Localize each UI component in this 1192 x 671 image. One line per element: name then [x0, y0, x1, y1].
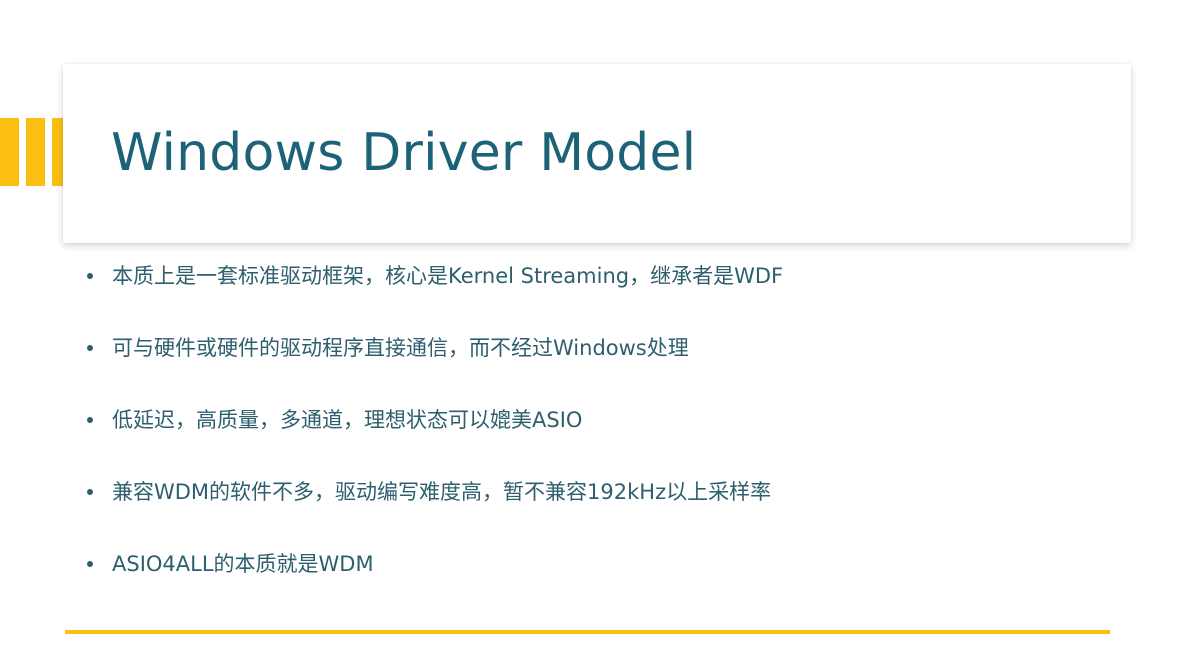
- title-card: Windows Driver Model: [63, 64, 1131, 243]
- bullet-dot-icon: [87, 489, 93, 495]
- slide-canvas: Windows Driver Model 本质上是一套标准驱动框架，核心是Ker…: [0, 0, 1192, 671]
- list-item-label: 本质上是一套标准驱动框架，核心是Kernel Streaming，继承者是WDF: [112, 264, 783, 288]
- bullet-dot-icon: [87, 417, 93, 423]
- list-item-label: 兼容WDM的软件不多，驱动编写难度高，暂不兼容192kHz以上采样率: [112, 480, 771, 504]
- list-item: 兼容WDM的软件不多，驱动编写难度高，暂不兼容192kHz以上采样率: [82, 478, 1112, 506]
- page-title: Windows Driver Model: [63, 125, 696, 182]
- bullet-dot-icon: [87, 561, 93, 567]
- accent-bar-2: [26, 118, 45, 186]
- list-item: 低延迟，高质量，多通道，理想状态可以媲美ASIO: [82, 406, 1112, 434]
- list-item-label: 可与硬件或硬件的驱动程序直接通信，而不经过Windows处理: [112, 336, 689, 360]
- bottom-rule-decoration: [65, 630, 1110, 634]
- list-item: 本质上是一套标准驱动框架，核心是Kernel Streaming，继承者是WDF: [82, 262, 1112, 290]
- bullet-list: 本质上是一套标准驱动框架，核心是Kernel Streaming，继承者是WDF…: [82, 262, 1112, 578]
- bullet-dot-icon: [87, 345, 93, 351]
- accent-bars-decoration: [0, 118, 64, 186]
- list-item: ASIO4ALL的本质就是WDM: [82, 550, 1112, 578]
- bullet-dot-icon: [87, 273, 93, 279]
- accent-bar-1: [0, 118, 19, 186]
- list-item-label: 低延迟，高质量，多通道，理想状态可以媲美ASIO: [112, 408, 582, 432]
- list-item-label: ASIO4ALL的本质就是WDM: [112, 552, 374, 576]
- list-item: 可与硬件或硬件的驱动程序直接通信，而不经过Windows处理: [82, 334, 1112, 362]
